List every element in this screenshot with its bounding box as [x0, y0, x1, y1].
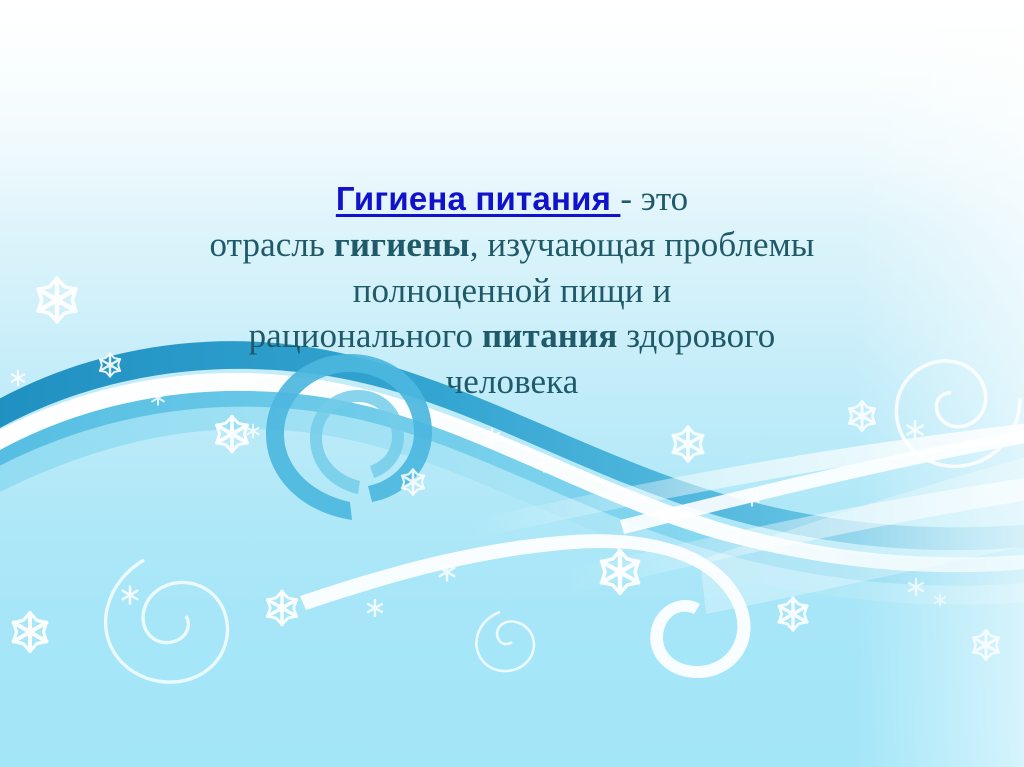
text-line-1: Гигиена питания - это: [0, 176, 1024, 222]
slide-text-body: Гигиена питания - это отрасль гигиены, и…: [0, 176, 1024, 404]
line4-bold-pitaniya: питания: [482, 316, 617, 355]
line5-text: человека: [446, 362, 579, 401]
text-line-2: отрасль гигиены, изучающая проблемы: [0, 222, 1024, 268]
line2-bold-gigieny: гигиены: [334, 225, 470, 264]
text-line-5: человека: [0, 359, 1024, 405]
line2-prefix: отрасль: [210, 225, 334, 264]
line4-prefix: рационального: [249, 316, 482, 355]
text-line-4: рационального питания здорового: [0, 313, 1024, 359]
text-line-3: полноценной пищи и: [0, 268, 1024, 314]
term-dash-eto: - это: [620, 179, 688, 218]
term-gigiena-pitaniya: Гигиена питания: [336, 180, 621, 217]
line4-suffix: здорового: [617, 316, 775, 355]
line2-suffix: , изучающая проблемы: [470, 225, 815, 264]
presentation-slide: Гигиена питания - это отрасль гигиены, и…: [0, 0, 1024, 767]
line3-text: полноценной пищи и: [353, 271, 672, 310]
